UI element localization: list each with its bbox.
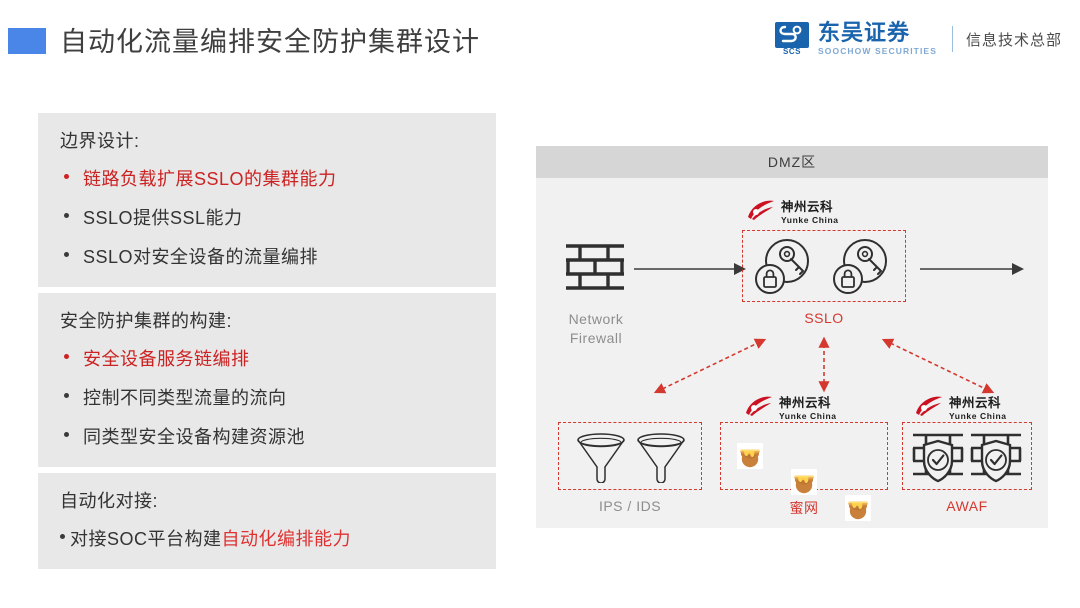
bullet-item: 对接SOC平台构建自动化编排能力 [60, 525, 474, 551]
brand-names: 东吴证券 SOOCHOW SECURITIES [818, 22, 937, 56]
bullet-dot-icon [64, 432, 69, 437]
node-label-network-firewall: Network Firewall [546, 310, 646, 348]
left-content-panel: 边界设计: 链路负载扩展SSLO的集群能力 SSLO提供SSL能力 SSLO对安… [38, 113, 496, 575]
title-accent-bar [8, 28, 46, 54]
yunke-name-cn: 神州云科 [949, 397, 1007, 410]
funnel-icon [635, 431, 687, 483]
content-block-boundary-design: 边界设计: 链路负载扩展SSLO的集群能力 SSLO提供SSL能力 SSLO对安… [38, 113, 496, 287]
node-label-awaf: AWAF [902, 498, 1032, 514]
bullet-dot-icon [64, 393, 69, 398]
brand-mark-text: SCS [775, 47, 809, 56]
bullet-dot-icon [60, 534, 65, 539]
bullet-label: 对接SOC平台构建自动化编排能力 [70, 525, 351, 551]
honey-pot-icon [791, 469, 817, 495]
block-heading: 自动化对接: [60, 487, 474, 513]
yunke-china-logo-sslo: 神州云科 Yunke China [746, 198, 839, 227]
page-header: 自动化流量编排安全防护集群设计 SCS 东吴证券 SOOCHOW SECURIT… [0, 0, 1080, 86]
bullet-label-accent: 自动化编排能力 [222, 529, 352, 549]
bullet-label: 控制不同类型流量的流向 [83, 384, 287, 410]
yunke-name-cn: 神州云科 [781, 201, 839, 214]
brick-wall-icon [564, 242, 626, 299]
connector-firewall-to-sslo-arrow [634, 258, 746, 280]
awaf-group-box [902, 422, 1032, 490]
bullet-item: 控制不同类型流量的流向 [60, 384, 474, 410]
yunke-name-en: Yunke China [949, 412, 1007, 421]
yunke-name-en: Yunke China [779, 412, 837, 421]
bullet-dot-icon [64, 213, 69, 218]
content-block-automation-integration: 自动化对接: 对接SOC平台构建自动化编排能力 [38, 473, 496, 569]
bullet-dot-icon [64, 174, 69, 179]
bullet-dot-icon [64, 354, 69, 359]
page-title: 自动化流量编排安全防护集群设计 [60, 20, 480, 59]
yunke-logo-text: 神州云科 Yunke China [781, 201, 839, 224]
yunke-swirl-icon [914, 394, 944, 423]
bullet-label: SSLO对安全设备的流量编排 [83, 243, 318, 269]
bullet-item: 同类型安全设备构建资源池 [60, 423, 474, 449]
connector-sslo-to-ips-ids-arrow [648, 332, 772, 400]
connector-sslo-outbound-arrow [920, 258, 1024, 280]
yunke-china-logo-honeynet: 神州云科 Yunke China [744, 394, 837, 423]
bullet-item: SSLO提供SSL能力 [60, 204, 474, 230]
yunke-swirl-icon [746, 198, 776, 227]
bullet-label: 链路负载扩展SSLO的集群能力 [83, 165, 337, 191]
brand-department: 信息技术总部 [966, 29, 1062, 50]
bullet-item: 链路负载扩展SSLO的集群能力 [60, 165, 474, 191]
shield-brick-icon [967, 429, 1025, 485]
honeynet-group-box [720, 422, 888, 490]
bullet-item: 安全设备服务链编排 [60, 345, 474, 371]
node-label-ips-ids: IPS / IDS [558, 498, 702, 514]
node-label-line2: Firewall [546, 329, 646, 348]
shield-brick-icon [909, 429, 967, 485]
funnel-icon [575, 431, 627, 483]
brand-divider [952, 26, 953, 52]
ips-ids-group-box [558, 422, 702, 490]
brand-logo: SCS 东吴证券 SOOCHOW SECURITIES 信息技术总部 [775, 22, 1062, 56]
key-lock-icon [831, 237, 893, 297]
bullet-label-plain: 对接SOC平台构建 [70, 529, 222, 549]
bullet-label: SSLO提供SSL能力 [83, 204, 243, 230]
yunke-logo-text: 神州云科 Yunke China [779, 397, 837, 420]
node-label-sslo: SSLO [772, 310, 876, 326]
sslo-group-box [742, 230, 906, 302]
yunke-name-cn: 神州云科 [779, 397, 837, 410]
soochow-logo-mark-icon: SCS [775, 22, 809, 56]
yunke-china-logo-awaf: 神州云科 Yunke China [914, 394, 1007, 423]
dmz-zone-header: DMZ区 [536, 146, 1048, 178]
key-lock-icon [753, 237, 815, 297]
honey-pot-icon [737, 443, 763, 469]
yunke-name-en: Yunke China [781, 216, 839, 225]
block-heading: 安全防护集群的构建: [60, 307, 474, 333]
dmz-zone-label: DMZ区 [768, 152, 816, 172]
content-block-cluster-construction: 安全防护集群的构建: 安全设备服务链编排 控制不同类型流量的流向 同类型安全设备… [38, 293, 496, 467]
block-heading: 边界设计: [60, 127, 474, 153]
node-label-honeynet: 蜜网 [720, 498, 888, 518]
bullet-dot-icon [64, 252, 69, 257]
yunke-logo-text: 神州云科 Yunke China [949, 397, 1007, 420]
bullet-label: 同类型安全设备构建资源池 [83, 423, 305, 449]
connector-sslo-to-awaf-arrow [876, 332, 1000, 400]
connector-sslo-to-honeynet-arrow [816, 332, 832, 398]
brand-name-en: SOOCHOW SECURITIES [818, 47, 937, 56]
architecture-diagram: DMZ区 Network Firewall [536, 146, 1048, 528]
bullet-label: 安全设备服务链编排 [83, 345, 250, 371]
yunke-swirl-icon [744, 394, 774, 423]
bullet-item: SSLO对安全设备的流量编排 [60, 243, 474, 269]
brand-name-cn: 东吴证券 [818, 22, 937, 44]
node-label-line1: Network [546, 310, 646, 329]
